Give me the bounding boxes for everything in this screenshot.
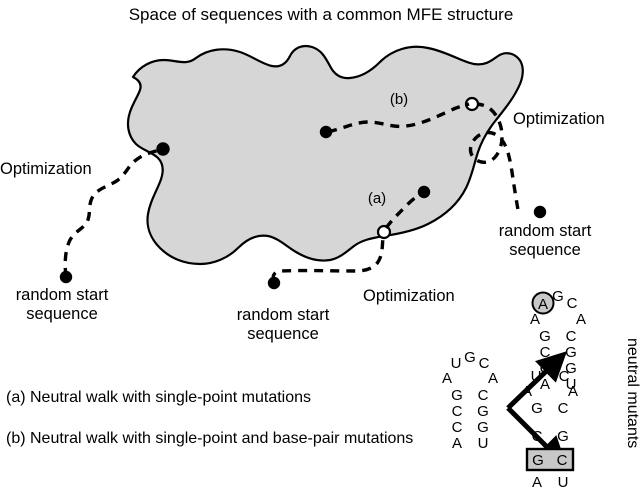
optimization-label-left: Optimization xyxy=(0,160,92,178)
rna-point-stem-0-left: G xyxy=(539,328,551,345)
optimization-label-center: Optimization xyxy=(363,287,455,305)
rna-point-side-0: A xyxy=(530,311,540,328)
rna-pair-side-1: A xyxy=(568,383,578,400)
neutral-mutants-label: neutral mutants xyxy=(624,338,641,448)
rna-pair-loop-1: G xyxy=(544,361,556,378)
rna-source-stem-1-right: G xyxy=(477,403,489,420)
rna-source-side-1: A xyxy=(488,370,498,387)
rna-point-loop-2: C xyxy=(567,295,578,312)
rna-pair-stem-2-right: C xyxy=(557,452,568,469)
random-start-dot-left xyxy=(60,271,72,283)
random-start-label-left-line1: random start xyxy=(16,286,109,304)
rna-source-structure: U G C A A G C C G C G A U xyxy=(442,349,498,452)
rna-pair-stem-1-left: C xyxy=(532,428,543,445)
rna-pair-loop-0: U xyxy=(531,368,542,385)
rna-source-stem-0-right: C xyxy=(478,387,489,404)
rna-source-side-0: A xyxy=(442,370,452,387)
random-start-label-right-line2: sequence xyxy=(509,241,581,259)
figure-canvas: Space of sequences with a common MFE str… xyxy=(0,0,642,495)
rna-point-stem-0-right: C xyxy=(566,328,577,345)
rna-pair-stem-0-left: G xyxy=(531,400,543,417)
caption-b: (b) Neutral walk with single-point and b… xyxy=(6,430,413,447)
walk-label-a: (a) xyxy=(368,190,386,207)
rna-source-stem-0-left: G xyxy=(451,387,463,404)
rna-point-side-1: A xyxy=(576,311,586,328)
random-start-label-left-line2: sequence xyxy=(26,305,98,323)
walk-label-b: (b) xyxy=(390,91,408,108)
random-start-label-right-line1: random start xyxy=(499,222,592,240)
rna-pair-stem-2-left: G xyxy=(532,452,544,469)
rna-source-stem-3-left: A xyxy=(452,435,462,452)
random-start-dot-center xyxy=(268,277,280,289)
rna-point-stem-1-right: G xyxy=(565,344,577,361)
rna-source-loop-1: G xyxy=(464,349,476,366)
rna-pair-stem-0-right: C xyxy=(558,400,569,417)
neutral-walk-endpoint-b xyxy=(320,126,332,138)
blob-entry-dot-left xyxy=(157,143,169,155)
rna-pair-stem-1-right: G xyxy=(557,428,569,445)
sequence-space-blob xyxy=(128,46,523,264)
rna-source-stem-3-right: U xyxy=(478,435,489,452)
optimization-label-right: Optimization xyxy=(513,110,605,128)
figure-title: Space of sequences with a common MFE str… xyxy=(129,5,514,24)
caption-a: (a) Neutral walk with single-point mutat… xyxy=(6,389,311,406)
rna-pair-stem-3-right: U xyxy=(558,474,569,491)
rna-pair-stem-3-left: A xyxy=(532,474,542,491)
random-start-label-center-line1: random start xyxy=(237,306,330,324)
rna-source-loop-0: U xyxy=(451,355,462,372)
rna-source-stem-1-left: C xyxy=(452,403,463,420)
neutral-walk-endpoint-a xyxy=(418,186,430,198)
rna-point-stem-3-left: A xyxy=(540,376,550,393)
random-start-dot-right xyxy=(534,206,546,218)
rna-point-stem-1-left: C xyxy=(540,344,551,361)
rna-source-stem-2-right: G xyxy=(477,419,489,436)
random-start-label-center-line2: sequence xyxy=(247,325,319,343)
rna-point-loop-1: G xyxy=(552,288,564,305)
rna-pair-side-0: A xyxy=(522,383,532,400)
rna-source-stem-2-left: C xyxy=(452,419,463,436)
